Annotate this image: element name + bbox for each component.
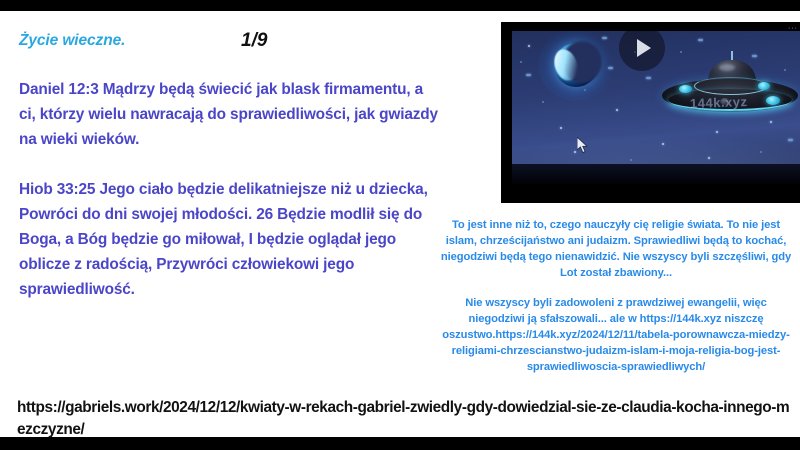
commentary-block: To jest inne niż to, czego nauczyły cię …	[440, 217, 792, 375]
content-sheet: Życie wieczne. 1/9 Daniel 12:3 Mądrzy bę…	[0, 11, 800, 437]
slide-canvas: Życie wieczne. 1/9 Daniel 12:3 Mądrzy bę…	[0, 0, 800, 450]
clip-letterbox	[512, 164, 800, 186]
page-title: Życie wieczne.	[19, 32, 125, 50]
scripture-paragraph-daniel: Daniel 12:3 Mądrzy będą świecić jak blas…	[19, 77, 439, 152]
commentary-paragraph-2[interactable]: Nie wszyscy byli zadowoleni z prawdziwej…	[440, 295, 792, 375]
bottom-url-text[interactable]: https://gabriels.work/2024/12/12/kwiaty-…	[17, 397, 792, 441]
planet-icon	[548, 39, 604, 91]
scripture-block: Daniel 12:3 Mądrzy będą świecić jak blas…	[19, 77, 439, 302]
video-player[interactable]: ···	[501, 22, 800, 203]
letterbox-bar-bottom	[0, 437, 800, 450]
video-frame[interactable]: 144k.xyz	[512, 31, 800, 186]
letterbox-bar-top	[0, 0, 800, 11]
commentary-paragraph-1: To jest inne niż to, czego nauczyły cię …	[440, 217, 792, 281]
ufo-graphic	[662, 60, 798, 122]
scripture-paragraph-hiob: Hiob 33:25 Jego ciało będzie delikatniej…	[19, 177, 439, 302]
video-watermark: 144k.xyz	[690, 94, 748, 111]
play-triangle-icon	[637, 39, 651, 57]
slide-counter: 1/9	[241, 30, 267, 52]
